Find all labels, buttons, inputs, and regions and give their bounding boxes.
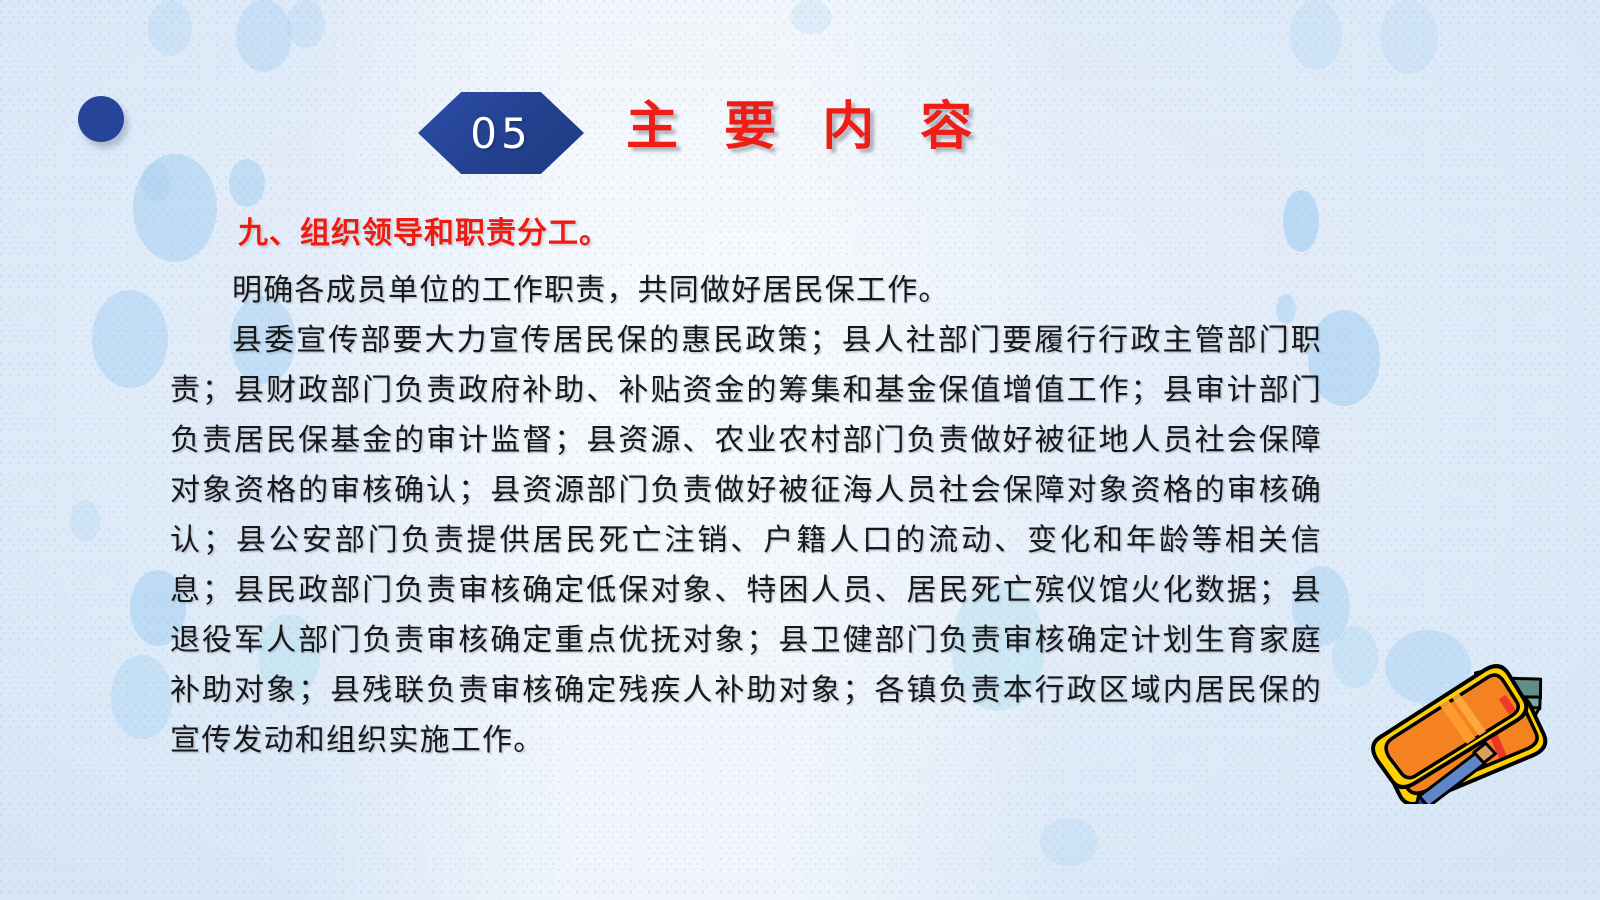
background-bubble (236, 0, 292, 72)
page-title: 主 要 内 容 (626, 84, 986, 159)
slide-header: 05 主 要 内 容 (0, 78, 1600, 188)
background-bubble (1290, 0, 1342, 70)
section-heading: 九、组织领导和职责分工。 (238, 208, 1322, 252)
slide-canvas: 05 主 要 内 容 九、组织领导和职责分工。 明确各成员单位的工作职责，共同做… (0, 0, 1600, 900)
background-bubble (1380, 0, 1438, 74)
body-paragraph: 县委宣传部要大力宣传居民保的惠民政策；县人社部门要履行行政主管部门职责；县财政部… (170, 316, 1322, 766)
background-bubble (1040, 818, 1098, 866)
background-bubble (287, 0, 325, 48)
background-bubble (92, 290, 168, 388)
body-paragraph: 明确各成员单位的工作职责，共同做好居民保工作。 (170, 266, 1322, 316)
background-bubble (111, 655, 173, 739)
background-bubble (148, 0, 192, 56)
slide-content: 九、组织领导和职责分工。 明确各成员单位的工作职责，共同做好居民保工作。 县委宣… (170, 208, 1322, 766)
background-bubble (70, 500, 100, 542)
section-number-badge: 05 (418, 92, 584, 174)
pencil-case-icon (1356, 649, 1586, 804)
background-bubble (790, 0, 832, 34)
badge-number-label: 05 (418, 92, 584, 174)
